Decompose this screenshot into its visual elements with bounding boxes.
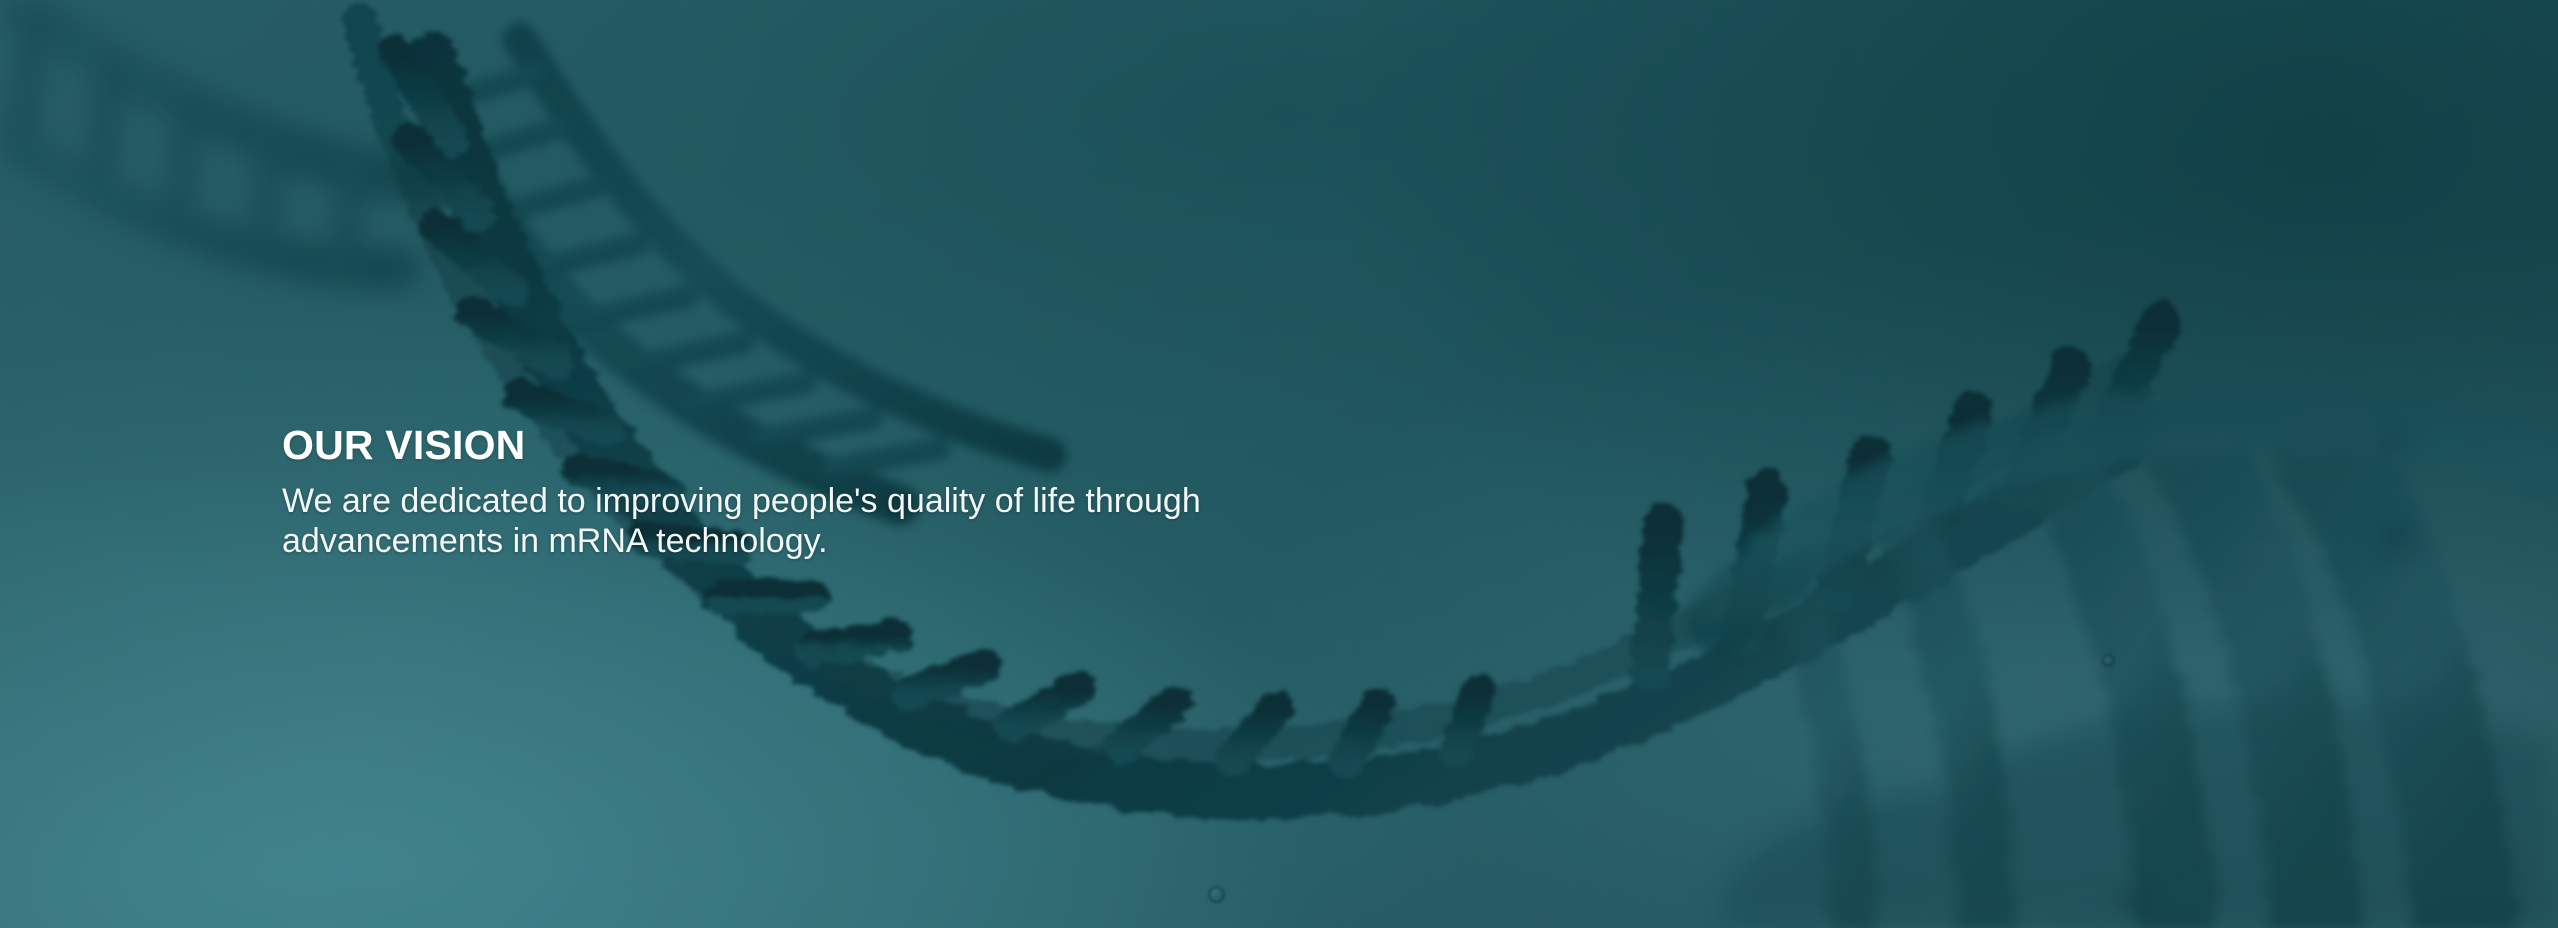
hero-body-line-2: advancements in mRNA technology. — [282, 522, 828, 560]
hero-banner: OUR VISION We are dedicated to improving… — [0, 0, 2558, 928]
blur-particle — [2370, 425, 2410, 463]
blur-particle — [2368, 512, 2424, 564]
blur-particle — [2110, 880, 2156, 920]
bubble-particle — [1208, 886, 1225, 903]
hero-text-block: OUR VISION We are dedicated to improving… — [282, 420, 1482, 561]
hero-heading: OUR VISION — [282, 420, 1482, 470]
hero-body-line-1: We are dedicated to improving people's q… — [282, 482, 1201, 520]
hero-body-text: We are dedicated to improving people's q… — [282, 481, 1322, 561]
bubble-particle — [2102, 654, 2115, 667]
